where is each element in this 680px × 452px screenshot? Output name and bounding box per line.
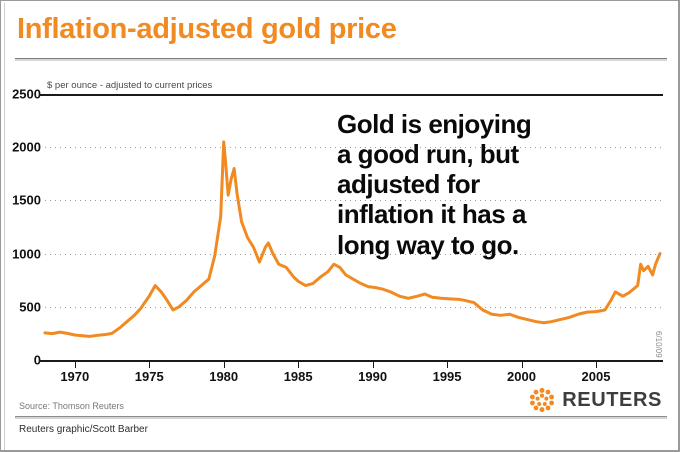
y-tick-label-1000: 1000 bbox=[5, 246, 41, 261]
source-note: Source: Thomson Reuters bbox=[19, 401, 124, 411]
chart-subtitle: $ per ounce - adjusted to current prices bbox=[47, 80, 212, 91]
x-tick-label-1970: 1970 bbox=[60, 369, 89, 384]
x-tick-label-1990: 1990 bbox=[358, 369, 387, 384]
x-tick-label-1985: 1985 bbox=[284, 369, 313, 384]
callout-line-2: a good run, but bbox=[337, 139, 627, 169]
page-title: Inflation-adjusted gold price bbox=[17, 13, 397, 46]
x-tick-1970 bbox=[75, 362, 76, 368]
gridline-500 bbox=[45, 307, 663, 308]
callout-line-3: adjusted for bbox=[337, 169, 627, 199]
y-tick-label-2500: 2500 bbox=[5, 87, 41, 102]
x-tick-label-2005: 2005 bbox=[582, 369, 611, 384]
y-tick-label-0: 0 bbox=[5, 353, 41, 368]
y-axis-stub-0 bbox=[39, 360, 45, 362]
x-tick-label-2000: 2000 bbox=[507, 369, 536, 384]
y-tick-label-2000: 2000 bbox=[5, 140, 41, 155]
x-tick-1995 bbox=[447, 362, 448, 368]
y-axis: 05001000150020002500 bbox=[1, 94, 41, 360]
title-divider bbox=[15, 58, 667, 61]
x-tick-1975 bbox=[149, 362, 150, 368]
reuters-logo: REUTERS bbox=[529, 387, 662, 413]
footer-divider bbox=[15, 416, 667, 419]
x-tick-1985 bbox=[298, 362, 299, 368]
x-tick-label-1980: 1980 bbox=[209, 369, 238, 384]
chart-callout: Gold is enjoying a good run, but adjuste… bbox=[337, 109, 627, 260]
callout-line-1: Gold is enjoying bbox=[337, 109, 627, 139]
y-axis-stub-2500 bbox=[39, 94, 45, 96]
x-tick-2000 bbox=[522, 362, 523, 368]
x-tick-1980 bbox=[224, 362, 225, 368]
x-tick-label-1975: 1975 bbox=[135, 369, 164, 384]
callout-line-4: inflation it has a bbox=[337, 199, 627, 229]
credit-note: Reuters graphic/Scott Barber bbox=[19, 424, 148, 435]
chart-card: Inflation-adjusted gold price $ per ounc… bbox=[0, 0, 680, 452]
x-axis-line bbox=[45, 360, 663, 362]
reuters-wordmark: REUTERS bbox=[562, 389, 662, 412]
x-tick-2005 bbox=[596, 362, 597, 368]
date-stamp: 6/10/09 bbox=[654, 331, 663, 358]
x-tick-1990 bbox=[373, 362, 374, 368]
x-tick-label-1995: 1995 bbox=[433, 369, 462, 384]
callout-line-5: long way to go. bbox=[337, 230, 627, 260]
reuters-dot-globe-icon bbox=[529, 387, 555, 413]
y-tick-label-500: 500 bbox=[5, 299, 41, 314]
y-tick-label-1500: 1500 bbox=[5, 193, 41, 208]
